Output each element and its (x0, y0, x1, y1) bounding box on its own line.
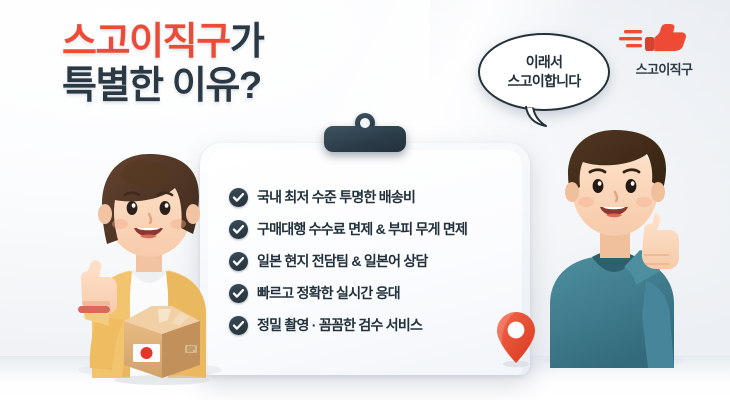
speech-bubble-line-1: 이래서 (526, 53, 563, 72)
list-item: 국내 최저 수준 투명한 배송비 (229, 181, 512, 213)
map-pin-icon (492, 310, 540, 368)
headline-line-1: 스고이직구가 (62, 20, 263, 64)
thumbs-up-icon (616, 18, 712, 58)
list-item: 일본 현지 전담팀 & 일본어 상담 (229, 245, 512, 277)
list-item: 구매대행 수수료 면제 & 부피 무게 면제 (229, 213, 512, 245)
clipboard-sheet: 국내 최저 수준 투명한 배송비 구매대행 수수료 면제 & 부피 무게 면제 … (208, 150, 522, 375)
list-item-label: 국내 최저 수준 투명한 배송비 (257, 187, 415, 207)
headline: 스고이직구가 특별한 이유? (62, 20, 263, 108)
speech-bubble-line-2: 스고이합니다 (507, 72, 580, 91)
list-item-label: 구매대행 수수료 면제 & 부피 무게 면제 (257, 219, 467, 239)
list-item-label: 빠르고 정확한 실시간 응대 (257, 283, 400, 303)
man-thumbs-up-illustration (528, 118, 708, 368)
speech-bubble-body: 이래서 스고이합니다 (478, 33, 610, 111)
promo-banner: 스고이직구가 특별한 이유? 스고이직구 (0, 0, 730, 400)
brand-logo[interactable]: 스고이직구 (616, 18, 712, 78)
cardboard-box-japan-flag-illustration (106, 300, 218, 385)
list-item: 빠르고 정확한 실시간 응대 (229, 277, 512, 309)
headline-line-1-tail: 가 (230, 21, 264, 63)
clipboard-clip-icon (324, 126, 406, 152)
logo-name: 스고이직구 (616, 59, 712, 78)
feature-list: 국내 최저 수준 투명한 배송비 구매대행 수수료 면제 & 부피 무게 면제 … (229, 181, 512, 341)
headline-line-2: 특별한 이유? (62, 64, 263, 108)
feature-clipboard: 국내 최저 수준 투명한 배송비 구매대행 수수료 면제 & 부피 무게 면제 … (200, 143, 530, 375)
list-item-label: 정밀 촬영 · 꼼꼼한 검수 서비스 (257, 315, 422, 335)
list-item-label: 일본 현지 전담팀 & 일본어 상담 (257, 251, 428, 271)
headline-brand-text: 스고이직구 (62, 21, 230, 63)
clip-hole (360, 118, 370, 128)
speech-bubble-tail (524, 105, 550, 127)
speech-bubble: 이래서 스고이합니다 (478, 33, 610, 111)
list-item: 정밀 촬영 · 꼼꼼한 검수 서비스 (229, 309, 512, 341)
